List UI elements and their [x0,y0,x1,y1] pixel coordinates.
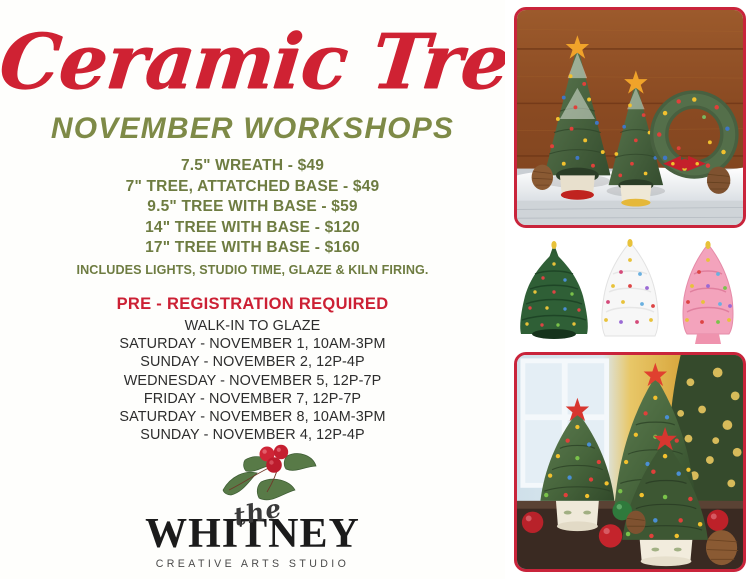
workshop-schedule-list: WALK-IN TO GLAZE SATURDAY - NOVEMBER 1, … [0,317,505,444]
studio-logo: WHITNEY the CREATIVE ARTS STUDIO [0,512,505,571]
page-title: Ceramic Trees [0,14,510,110]
logo-wordmark-text: WHITNEY the [145,512,360,556]
schedule-item: WEDNESDAY - NOVEMBER 5, 12P-7P [0,372,505,390]
price-list-item: 14" TREE WITH BASE - $120 [0,218,505,239]
includes-note: INCLUDES LIGHTS, STUDIO TIME, GLAZE & KI… [0,262,505,278]
photo-column [505,0,750,579]
price-list-item: 7.5" WREATH - $49 [0,156,505,177]
pre-registration-heading: PRE - REGISTRATION REQUIRED [0,294,505,314]
price-list-item: 9.5" TREE WITH BASE - $59 [0,197,505,218]
flyer-text-column: Ceramic Trees NOVEMBER WORKSHOPS 7.5" WR… [0,0,505,579]
ceramic-trees-flyer: Ceramic Trees NOVEMBER WORKSHOPS 7.5" WR… [0,0,750,579]
photo-two-ceramic-trees-and-lit-wreath [514,7,746,228]
schedule-item: SATURDAY - NOVEMBER 8, 10AM-3PM [0,408,505,426]
photo-three-colored-ceramic-trees [509,234,750,348]
schedule-item: SATURDAY - NOVEMBER 1, 10AM-3PM [0,335,505,353]
price-list-item: 17" TREE WITH BASE - $160 [0,238,505,259]
photo-three-lit-ceramic-trees-window [514,352,746,572]
page-subtitle: NOVEMBER WORKSHOPS [0,112,505,146]
price-list-item: 7" TREE, ATTATCHED BASE - $49 [0,177,505,198]
price-list: 7.5" WREATH - $49 7" TREE, ATTATCHED BAS… [0,156,505,259]
schedule-item: WALK-IN TO GLAZE [0,317,505,335]
schedule-item: FRIDAY - NOVEMBER 7, 12P-7P [0,390,505,408]
logo-tagline: CREATIVE ARTS STUDIO [0,557,505,571]
schedule-item: SUNDAY - NOVEMBER 2, 12P-4P [0,353,505,371]
